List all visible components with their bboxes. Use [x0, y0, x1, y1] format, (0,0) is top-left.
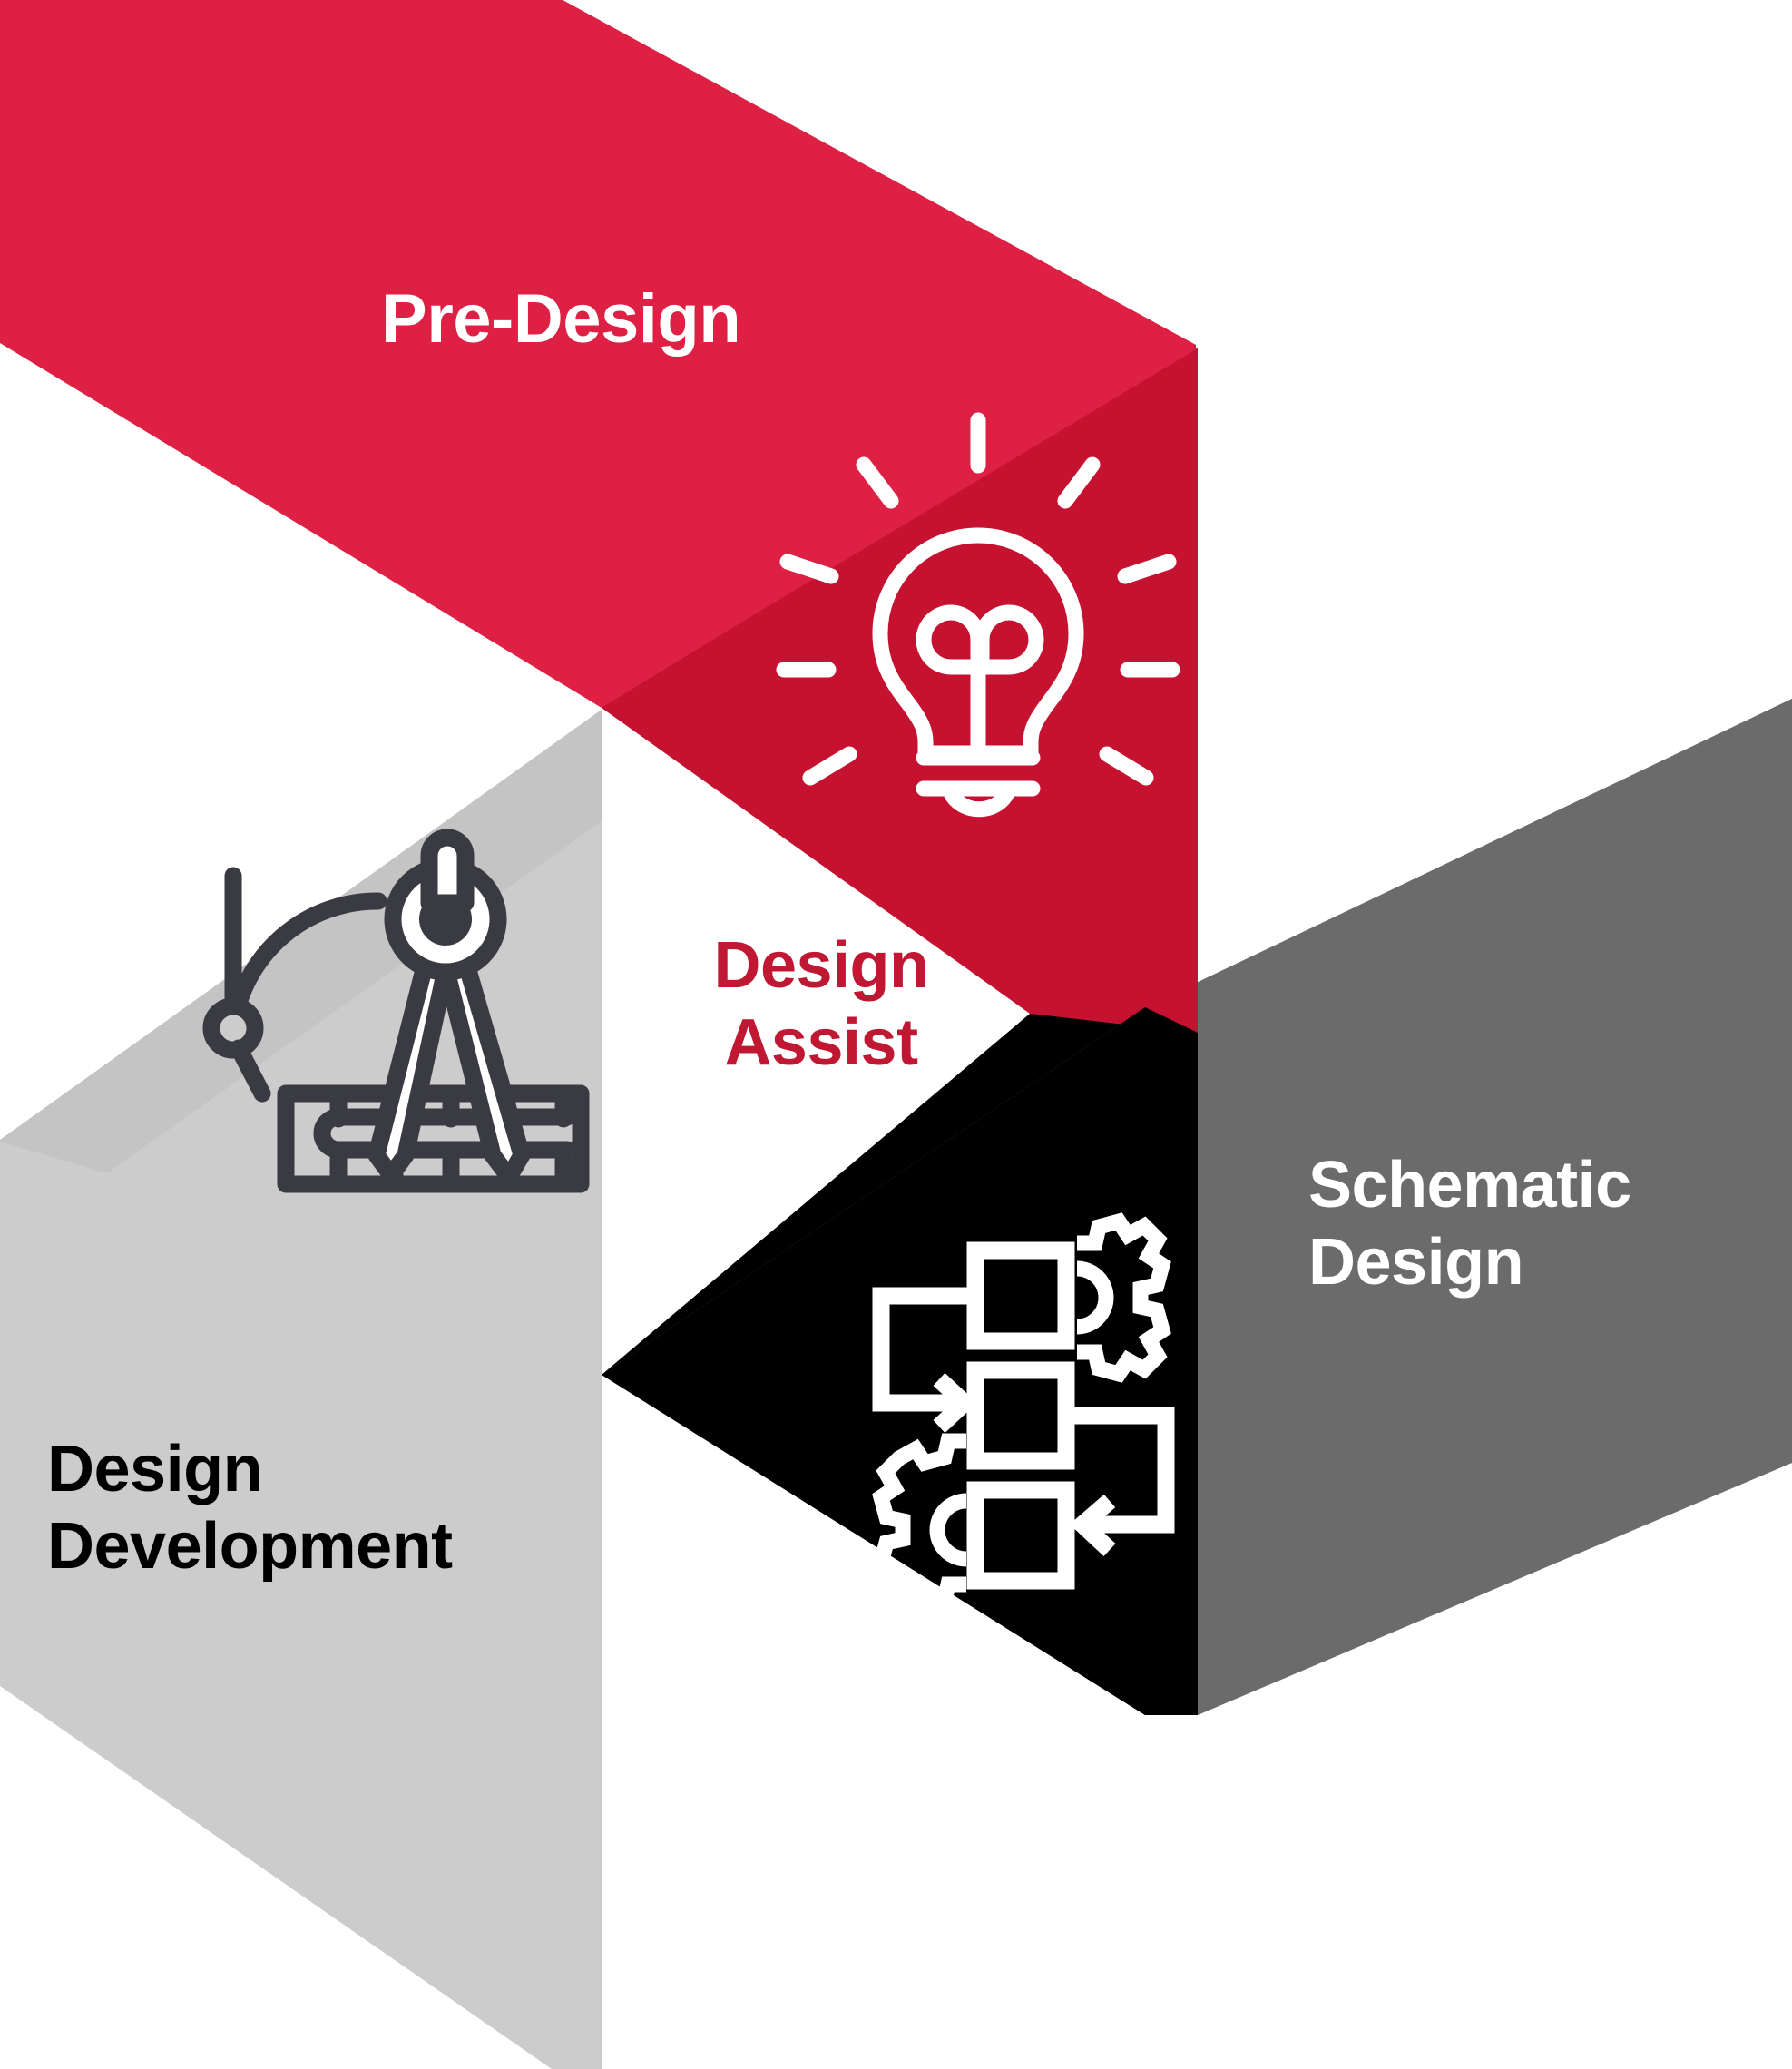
design-process-diagram: Pre-Design Design Assist Schematic Desig…: [0, 0, 1792, 2069]
diagram-canvas: [0, 0, 1792, 2069]
schematic-design-overlay: [1145, 699, 1792, 1715]
compass-handle: [429, 838, 465, 903]
